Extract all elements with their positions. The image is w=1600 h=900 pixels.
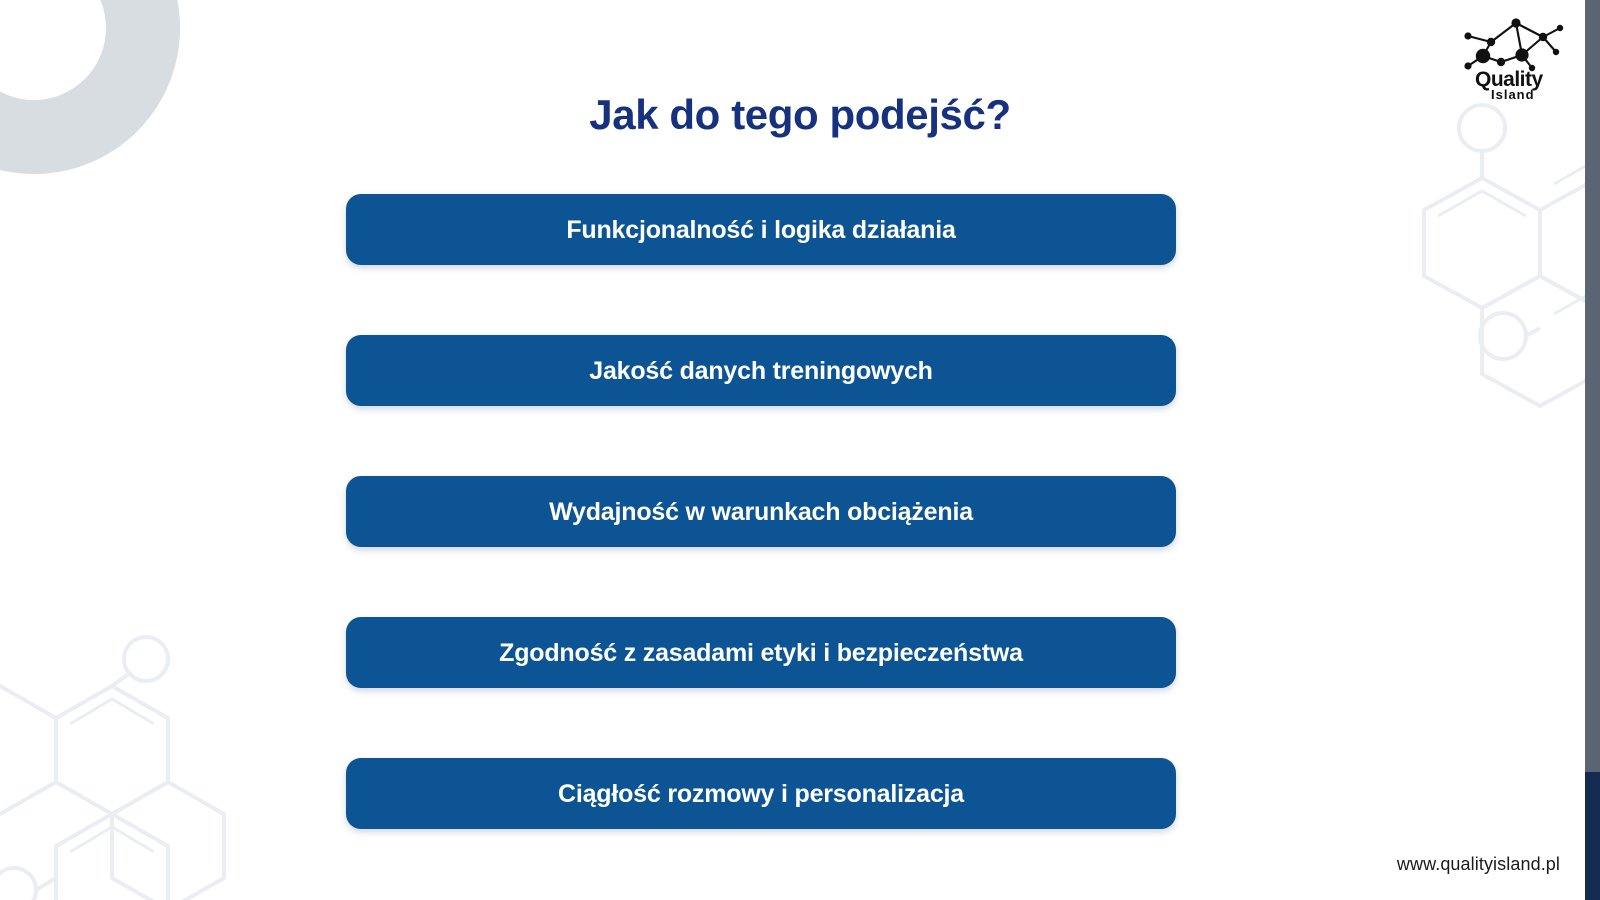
page-title: Jak do tego podejść?	[0, 90, 1600, 140]
bottom-left-hexagon-pattern-icon	[0, 600, 250, 900]
list-item-1[interactable]: Funkcjonalność i logika działania	[346, 194, 1176, 265]
quality-island-logo: Quality Island	[1444, 14, 1566, 100]
list-item-label: Jakość danych treningowych	[589, 356, 933, 386]
list-item-4[interactable]: Zgodność z zasadami etyki i bezpieczeńst…	[346, 617, 1176, 688]
criteria-list: Funkcjonalność i logika działania Jakość…	[346, 194, 1176, 829]
top-left-ring-decoration	[0, 0, 180, 174]
list-item-label: Wydajność w warunkach obciążenia	[549, 497, 973, 527]
list-item-label: Zgodność z zasadami etyki i bezpieczeńst…	[499, 638, 1023, 668]
list-item-label: Funkcjonalność i logika działania	[566, 215, 955, 245]
list-item-5[interactable]: Ciągłość rozmowy i personalizacja	[346, 758, 1176, 829]
footer-website-url: www.qualityisland.pl	[1397, 853, 1560, 875]
list-item-3[interactable]: Wydajność w warunkach obciążenia	[346, 476, 1176, 547]
list-item-label: Ciągłość rozmowy i personalizacja	[558, 779, 964, 809]
edge-stripe-bottom-segment	[1585, 772, 1600, 900]
list-item-2[interactable]: Jakość danych treningowych	[346, 335, 1176, 406]
logo-network-icon: Quality Island	[1444, 14, 1566, 100]
slide-canvas: Quality Island Jak do tego podejść? Funk…	[0, 0, 1600, 900]
